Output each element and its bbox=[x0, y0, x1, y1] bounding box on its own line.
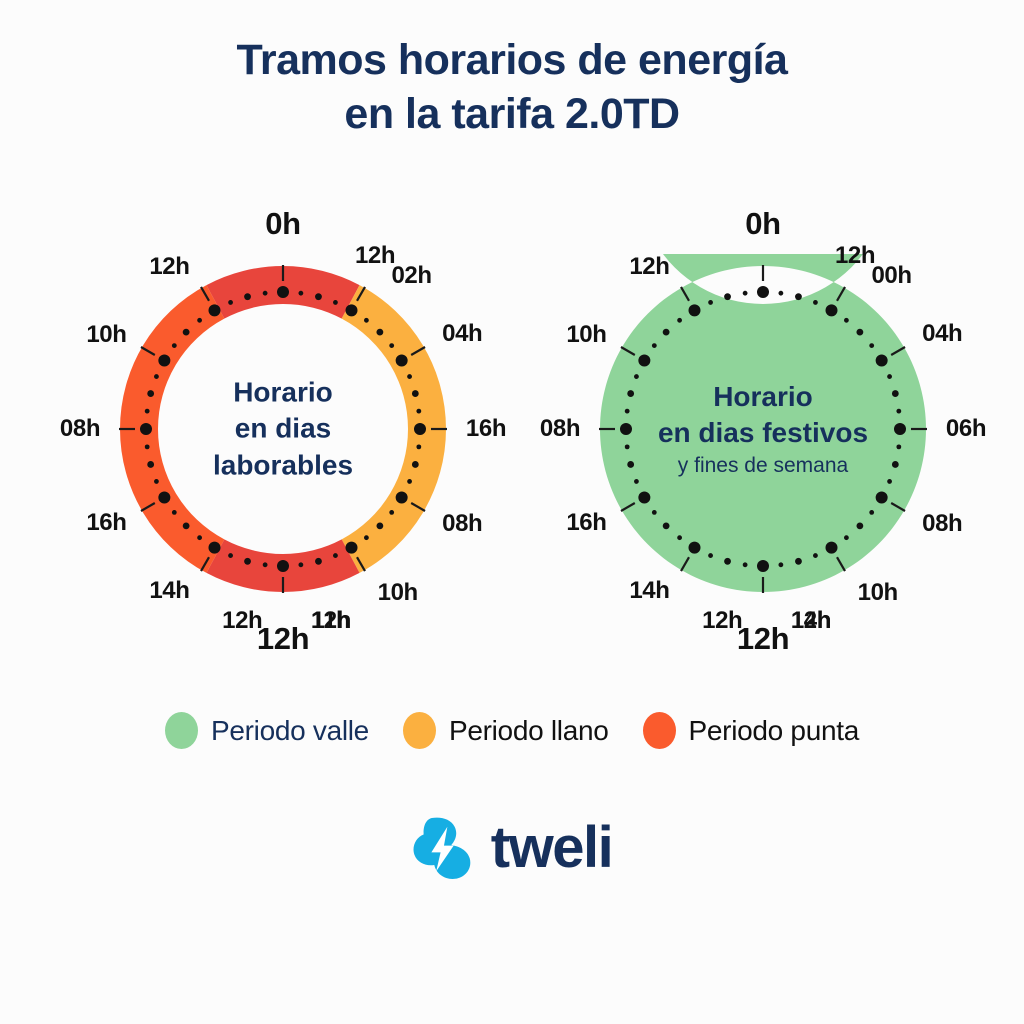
donut-dot bbox=[172, 510, 177, 515]
donut-dot bbox=[183, 329, 190, 336]
donut-dot bbox=[197, 318, 202, 323]
donut-dot bbox=[145, 444, 150, 449]
donut-dot bbox=[154, 374, 159, 379]
donut-laborables: Horario en dias laborables bbox=[108, 254, 458, 604]
legend-label: Periodo punta bbox=[689, 715, 859, 747]
donut-dot bbox=[896, 444, 901, 449]
donut-dot bbox=[412, 390, 419, 397]
donut-dot bbox=[147, 461, 154, 468]
donut-dot bbox=[634, 374, 639, 379]
donut-dot bbox=[778, 562, 783, 567]
donut-dot bbox=[638, 492, 650, 504]
donut-dot bbox=[407, 479, 412, 484]
donut-dot bbox=[407, 374, 412, 379]
donut-festivos-svg bbox=[588, 254, 938, 604]
donut-dot bbox=[876, 355, 888, 367]
donut-dot bbox=[724, 558, 731, 565]
donut-dot bbox=[869, 510, 874, 515]
donut-dot bbox=[364, 318, 369, 323]
donut-dot bbox=[708, 553, 713, 558]
donut-dot bbox=[892, 461, 899, 468]
donut-dot bbox=[826, 542, 838, 554]
hour-label: 12h bbox=[629, 253, 669, 281]
hour-label: 06h bbox=[946, 415, 986, 443]
hour-label: 12h bbox=[791, 607, 831, 635]
legend-item[interactable]: Periodo valle bbox=[165, 712, 369, 749]
donut-dot bbox=[389, 343, 394, 348]
donut-dot bbox=[364, 535, 369, 540]
donut-dot bbox=[813, 553, 818, 558]
hour-label: 0h bbox=[745, 206, 780, 242]
donut-dot bbox=[346, 304, 358, 316]
page-title: Tramos horarios de energía en la tarifa … bbox=[0, 34, 1024, 142]
donut-dot bbox=[263, 562, 268, 567]
donut-segment bbox=[600, 254, 926, 592]
donut-dot bbox=[228, 300, 233, 305]
donut-dot bbox=[826, 304, 838, 316]
legend-label: Periodo valle bbox=[211, 715, 369, 747]
hour-label: 00h bbox=[871, 262, 911, 290]
donut-dot bbox=[663, 522, 670, 529]
donut-dot bbox=[412, 461, 419, 468]
donut-dot bbox=[663, 329, 670, 336]
donut-dot bbox=[813, 300, 818, 305]
donut-dot bbox=[244, 558, 251, 565]
donut-laborables-svg bbox=[108, 254, 458, 604]
donut-dot bbox=[396, 492, 408, 504]
donut-dot bbox=[315, 558, 322, 565]
donut-segment bbox=[120, 285, 224, 573]
title-line-1: Tramos horarios de energía bbox=[0, 34, 1024, 88]
hour-label: 08h bbox=[922, 510, 962, 538]
donut-festivos: Horario en dias festivos y fines de sema… bbox=[588, 254, 938, 604]
donut-dot bbox=[724, 293, 731, 300]
donut-dot bbox=[396, 355, 408, 367]
donut-dot bbox=[652, 343, 657, 348]
donut-dot bbox=[677, 318, 682, 323]
donut-dot bbox=[298, 562, 303, 567]
donut-dot bbox=[333, 300, 338, 305]
hour-label: 10h bbox=[378, 579, 418, 607]
donut-dot bbox=[333, 553, 338, 558]
donut-dot bbox=[795, 558, 802, 565]
donut-dot bbox=[183, 522, 190, 529]
donut-dot bbox=[277, 286, 289, 298]
donut-dot bbox=[677, 535, 682, 540]
donut-dot bbox=[894, 423, 906, 435]
donut-dot bbox=[376, 329, 383, 336]
legend: Periodo vallePeriodo llanoPeriodo punta bbox=[0, 712, 1024, 749]
donut-dot bbox=[856, 522, 863, 529]
donut-dot bbox=[315, 293, 322, 300]
hour-label: 16h bbox=[466, 415, 506, 443]
donut-dot bbox=[228, 553, 233, 558]
donut-dot bbox=[147, 390, 154, 397]
donut-dot bbox=[416, 444, 421, 449]
chart-festivos: Horario en dias festivos y fines de sema… bbox=[548, 214, 978, 644]
legend-label: Periodo llano bbox=[449, 715, 609, 747]
hour-label: 14h bbox=[629, 577, 669, 605]
title-line-2: en la tarifa 2.0TD bbox=[0, 88, 1024, 142]
donut-dot bbox=[743, 562, 748, 567]
donut-dot bbox=[844, 318, 849, 323]
brand-logo: tweli bbox=[0, 816, 1024, 880]
charts-container: Horario en dias laborables 0h12h10h08h16… bbox=[0, 196, 1024, 666]
legend-color-swatch-icon bbox=[165, 712, 198, 749]
hour-label: 16h bbox=[566, 509, 606, 537]
donut-dot bbox=[197, 535, 202, 540]
donut-dot bbox=[416, 409, 421, 414]
donut-dot bbox=[757, 286, 769, 298]
donut-dot bbox=[743, 291, 748, 296]
donut-dot bbox=[627, 390, 634, 397]
donut-dot bbox=[689, 542, 701, 554]
donut-dot bbox=[689, 304, 701, 316]
donut-dot bbox=[634, 479, 639, 484]
donut-dot bbox=[346, 542, 358, 554]
hour-label: 10h bbox=[86, 321, 126, 349]
donut-dot bbox=[158, 492, 170, 504]
hour-label: 14h bbox=[149, 577, 189, 605]
hour-label: 12h bbox=[835, 242, 875, 270]
donut-dot bbox=[244, 293, 251, 300]
hour-label: 08h bbox=[540, 415, 580, 443]
hour-label: 08h bbox=[60, 415, 100, 443]
infographic-page: Tramos horarios de energía en la tarifa … bbox=[0, 0, 1024, 1024]
donut-dot bbox=[140, 423, 152, 435]
donut-dot bbox=[652, 510, 657, 515]
donut-dot bbox=[209, 304, 221, 316]
hour-label: 0h bbox=[265, 206, 300, 242]
legend-item[interactable]: Periodo punta bbox=[643, 712, 859, 749]
tweli-wordmark: tweli bbox=[491, 819, 612, 877]
donut-segment bbox=[342, 285, 446, 573]
donut-dot bbox=[638, 355, 650, 367]
donut-dot bbox=[154, 479, 159, 484]
hour-label: 10h bbox=[566, 321, 606, 349]
donut-dot bbox=[708, 300, 713, 305]
donut-dot bbox=[869, 343, 874, 348]
donut-dot bbox=[620, 423, 632, 435]
donut-dot bbox=[277, 560, 289, 572]
donut-dot bbox=[145, 409, 150, 414]
hour-label: 12h bbox=[737, 621, 789, 657]
donut-dot bbox=[263, 291, 268, 296]
hour-label: 04h bbox=[922, 320, 962, 348]
legend-item[interactable]: Periodo llano bbox=[403, 712, 609, 749]
donut-dot bbox=[627, 461, 634, 468]
hour-label: 16h bbox=[86, 509, 126, 537]
donut-dot bbox=[625, 444, 630, 449]
donut-dot bbox=[625, 409, 630, 414]
donut-dot bbox=[896, 409, 901, 414]
hour-label: 04h bbox=[442, 320, 482, 348]
tweli-bolt-icon bbox=[412, 816, 474, 880]
hour-label: 12h bbox=[311, 607, 351, 635]
hour-label: 12h bbox=[257, 621, 309, 657]
donut-dot bbox=[876, 492, 888, 504]
hour-label: 12h bbox=[355, 242, 395, 270]
donut-dot bbox=[892, 390, 899, 397]
donut-dot bbox=[158, 355, 170, 367]
legend-color-swatch-icon bbox=[403, 712, 436, 749]
hour-label: 10h bbox=[858, 579, 898, 607]
donut-dot bbox=[778, 291, 783, 296]
legend-color-swatch-icon bbox=[643, 712, 676, 749]
donut-dot bbox=[757, 560, 769, 572]
hour-label: 08h bbox=[442, 510, 482, 538]
donut-dot bbox=[844, 535, 849, 540]
donut-dot bbox=[856, 329, 863, 336]
donut-dot bbox=[414, 423, 426, 435]
donut-dot bbox=[298, 291, 303, 296]
chart-laborables: Horario en dias laborables 0h12h10h08h16… bbox=[68, 214, 498, 644]
hour-label: 12h bbox=[149, 253, 189, 281]
donut-dot bbox=[209, 542, 221, 554]
donut-dot bbox=[887, 374, 892, 379]
donut-dot bbox=[887, 479, 892, 484]
hour-label: 02h bbox=[391, 262, 431, 290]
donut-dot bbox=[376, 522, 383, 529]
donut-dot bbox=[795, 293, 802, 300]
donut-dot bbox=[389, 510, 394, 515]
donut-dot bbox=[172, 343, 177, 348]
